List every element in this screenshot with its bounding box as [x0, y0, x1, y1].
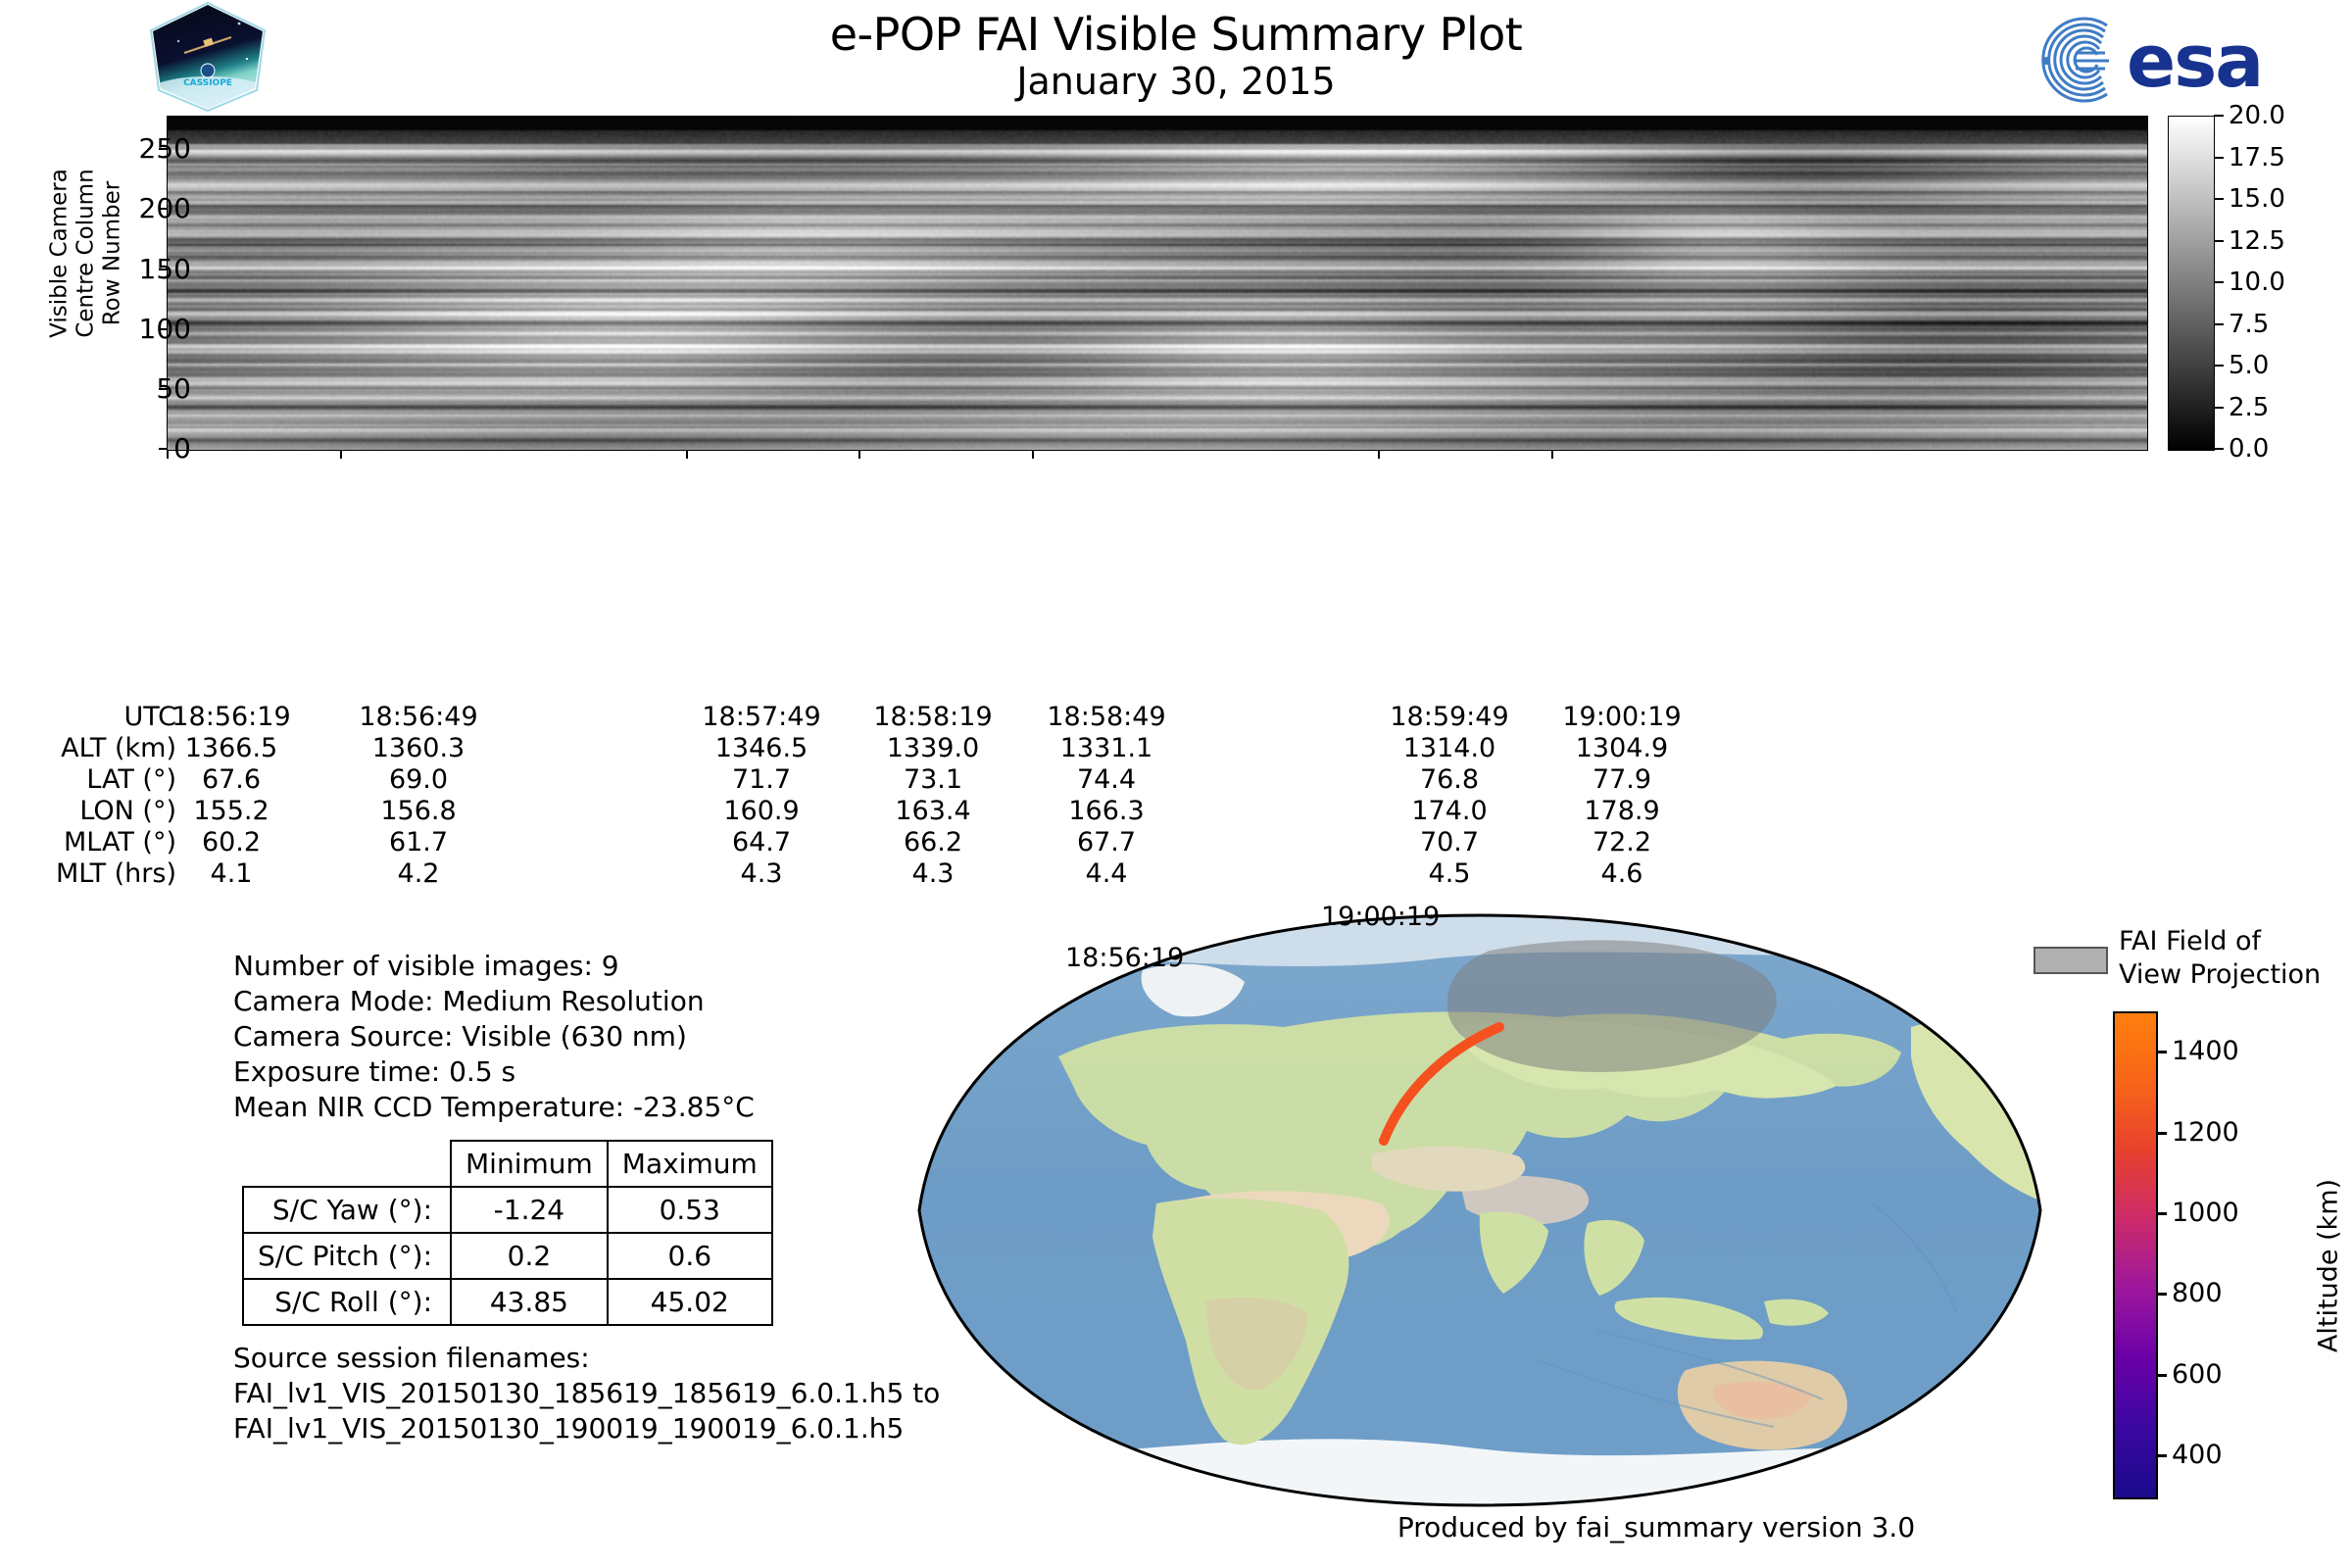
param-cell: 163.4	[835, 796, 1031, 826]
info-line-exposure: Exposure time: 0.5 s	[233, 1054, 755, 1090]
param-cell: 1314.0	[1351, 733, 1547, 763]
table-row: LON (°)155.2156.8160.9163.4166.3174.0178…	[0, 796, 2195, 823]
param-cell: 18:58:19	[835, 702, 1031, 732]
sc-row-label: S/C Pitch (°):	[243, 1233, 451, 1279]
param-cell: 1304.9	[1524, 733, 1720, 763]
param-cell: 64.7	[663, 827, 859, 857]
sc-row-label: S/C Yaw (°):	[243, 1187, 451, 1233]
signal-colorbar-tick-mark	[2214, 448, 2224, 450]
signal-colorbar-tick-mark	[2214, 365, 2224, 367]
cassiope-logo-text: CASSIOPE	[183, 78, 232, 88]
sc-cell-minimum: 0.2	[451, 1233, 608, 1279]
param-cell: 18:56:19	[133, 702, 329, 732]
altitude-colorbar-tick-mark	[2156, 1454, 2167, 1457]
fov-legend-label: FAI Field of View Projection	[2119, 925, 2321, 992]
param-cell: 1366.5	[133, 733, 329, 763]
param-cell: 174.0	[1351, 796, 1547, 826]
info-line-camera-source: Camera Source: Visible (630 nm)	[233, 1019, 755, 1054]
altitude-colorbar-tick-label: 600	[2172, 1361, 2223, 1388]
table-row: MLAT (°)60.261.764.766.267.770.772.2	[0, 827, 2195, 855]
sc-cell-maximum: 0.53	[608, 1187, 772, 1233]
signal-colorbar-tick-label: 17.5	[2229, 145, 2285, 171]
param-cell: 4.3	[663, 858, 859, 889]
y-axis-label-line-3: Row Number	[100, 28, 126, 479]
signal-colorbar-tick-mark	[2214, 198, 2224, 200]
param-cell: 18:57:49	[663, 702, 859, 732]
signal-colorbar-tick-label: 12.5	[2229, 228, 2285, 254]
param-cell: 71.7	[663, 764, 859, 795]
x-tick-mark	[340, 450, 342, 459]
fov-legend-line-2: View Projection	[2119, 958, 2321, 992]
page-subtitle: January 30, 2015	[0, 57, 2352, 106]
source-filenames-block: Source session filenames: FAI_lv1_VIS_20…	[233, 1341, 940, 1446]
param-cell: 4.5	[1351, 858, 1547, 889]
filename-line-2: FAI_lv1_VIS_20150130_190019_190019_6.0.1…	[233, 1411, 940, 1446]
param-cell: 70.7	[1351, 827, 1547, 857]
param-cell: 4.2	[320, 858, 516, 889]
y-tick-mark	[159, 388, 167, 390]
altitude-colorbar-tick-label: 1000	[2172, 1200, 2239, 1226]
y-tick-label: 50	[34, 375, 191, 403]
altitude-colorbar-tick-mark	[2156, 1212, 2167, 1215]
x-tick-mark	[1551, 450, 1553, 459]
altitude-colorbar-tick-mark	[2156, 1051, 2167, 1053]
y-axis-label-line-1: Visible Camera	[47, 28, 73, 479]
altitude-colorbar-label: Altitude (km)	[2314, 1060, 2344, 1472]
sc-cell-minimum: -1.24	[451, 1187, 608, 1233]
info-line-ccd-temp: Mean NIR CCD Temperature: -23.85°C	[233, 1090, 755, 1125]
signal-colorbar-tick-label: 7.5	[2229, 312, 2269, 337]
param-cell: 4.4	[1008, 858, 1204, 889]
esa-logo: esa	[2021, 16, 2315, 104]
table-row: LAT (°)67.669.071.773.174.476.877.9	[0, 764, 2195, 792]
param-cell: 1339.0	[835, 733, 1031, 763]
param-cell: 1360.3	[320, 733, 516, 763]
y-tick-label: 100	[34, 316, 191, 343]
altitude-colorbar-tick-mark	[2156, 1293, 2167, 1296]
x-tick-mark	[1378, 450, 1380, 459]
signal-colorbar-tick-label: 5.0	[2229, 353, 2269, 378]
param-cell: 74.4	[1008, 764, 1204, 795]
x-tick-mark	[167, 450, 169, 459]
param-cell: 4.1	[133, 858, 329, 889]
param-cell: 73.1	[835, 764, 1031, 795]
signal-colorbar-tick-label: 0.0	[2229, 436, 2269, 462]
param-cell: 156.8	[320, 796, 516, 826]
param-cell: 60.2	[133, 827, 329, 857]
param-cell: 69.0	[320, 764, 516, 795]
table-row: S/C Yaw (°):-1.240.53	[243, 1187, 772, 1233]
param-cell: 160.9	[663, 796, 859, 826]
signal-colorbar-tick-label: 2.5	[2229, 395, 2269, 420]
signal-colorbar-tick-mark	[2214, 240, 2224, 242]
fai-signal-heatmap	[167, 116, 2148, 451]
signal-colorbar-tick-mark	[2214, 323, 2224, 325]
param-cell: 77.9	[1524, 764, 1720, 795]
sc-cell-maximum: 45.02	[608, 1279, 772, 1325]
table-row: ALT (km)1366.51360.31346.51339.01331.113…	[0, 733, 2195, 760]
signal-colorbar-tick-mark	[2214, 157, 2224, 159]
y-tick-mark	[159, 328, 167, 330]
info-line-images: Number of visible images: 9	[233, 949, 755, 984]
signal-colorbar-tick-mark	[2214, 407, 2224, 409]
info-line-camera-mode: Camera Mode: Medium Resolution	[233, 984, 755, 1019]
param-cell: 178.9	[1524, 796, 1720, 826]
param-cell: 66.2	[835, 827, 1031, 857]
param-cell: 72.2	[1524, 827, 1720, 857]
sc-table-col-maximum: Maximum	[608, 1141, 772, 1187]
filename-line-1: FAI_lv1_VIS_20150130_185619_185619_6.0.1…	[233, 1376, 940, 1411]
sc-row-label: S/C Roll (°):	[243, 1279, 451, 1325]
table-row: MLT (hrs)4.14.24.34.34.44.54.6	[0, 858, 2195, 886]
filenames-heading: Source session filenames:	[233, 1341, 940, 1376]
sc-cell-minimum: 43.85	[451, 1279, 608, 1325]
cassiope-logo: CASSIOPE	[149, 2, 267, 112]
signal-colorbar	[2168, 116, 2215, 451]
param-cell: 1331.1	[1008, 733, 1204, 763]
altitude-colorbar-tick-label: 1200	[2172, 1119, 2239, 1146]
signal-colorbar-tick-label: 15.0	[2229, 186, 2285, 212]
param-cell: 155.2	[133, 796, 329, 826]
x-tick-mark	[858, 450, 860, 459]
x-tick-mark	[1032, 450, 1034, 459]
param-cell: 4.3	[835, 858, 1031, 889]
session-info-block: Number of visible images: 9 Camera Mode:…	[233, 949, 755, 1125]
sc-table-col-minimum: Minimum	[451, 1141, 608, 1187]
y-axis-label-line-2: Centre Column	[73, 28, 100, 479]
signal-colorbar-tick-label: 10.0	[2229, 269, 2285, 295]
param-cell: 76.8	[1351, 764, 1547, 795]
map-start-time-label: 18:56:19	[1065, 943, 1184, 973]
spacecraft-attitude-table: Minimum Maximum S/C Yaw (°):-1.240.53S/C…	[242, 1140, 773, 1326]
y-tick-label: 150	[34, 256, 191, 283]
param-cell: 18:59:49	[1351, 702, 1547, 732]
altitude-colorbar-tick-mark	[2156, 1132, 2167, 1135]
y-tick-mark	[159, 148, 167, 150]
param-cell: 67.7	[1008, 827, 1204, 857]
signal-colorbar-tick-mark	[2214, 281, 2224, 283]
sc-table-corner	[243, 1141, 451, 1187]
table-row: S/C Pitch (°):0.20.6	[243, 1233, 772, 1279]
param-cell: 19:00:19	[1524, 702, 1720, 732]
param-cell: 18:56:49	[320, 702, 516, 732]
y-tick-mark	[159, 269, 167, 270]
y-tick-label: 200	[34, 195, 191, 222]
page-title: e-POP FAI Visible Summary Plot	[0, 6, 2352, 63]
map-end-time-label: 19:00:19	[1321, 902, 1440, 932]
table-row: UTC18:56:1918:56:4918:57:4918:58:1918:58…	[0, 702, 2195, 729]
altitude-colorbar-tick-label: 400	[2172, 1442, 2223, 1468]
fov-legend-swatch	[2033, 947, 2108, 974]
ephemeris-parameter-table: UTC18:56:1918:56:4918:57:4918:58:1918:58…	[0, 702, 2195, 890]
y-tick-mark	[159, 208, 167, 210]
x-tick-mark	[686, 450, 688, 459]
param-cell: 4.6	[1524, 858, 1720, 889]
signal-colorbar-tick-mark	[2214, 115, 2224, 117]
param-cell: 166.3	[1008, 796, 1204, 826]
heatmap-y-axis-label: Visible Camera Centre Column Row Number	[47, 28, 126, 479]
ground-track-world-map: 19:00:19 18:56:19	[911, 909, 2048, 1511]
signal-colorbar-tick-label: 20.0	[2229, 103, 2285, 128]
param-cell: 18:58:49	[1008, 702, 1204, 732]
table-row: S/C Roll (°):43.8545.02	[243, 1279, 772, 1325]
param-cell: 1346.5	[663, 733, 859, 763]
altitude-colorbar-tick-label: 1400	[2172, 1038, 2239, 1064]
table-header-row: Minimum Maximum	[243, 1141, 772, 1187]
fov-legend-line-1: FAI Field of	[2119, 925, 2321, 958]
altitude-colorbar	[2113, 1011, 2158, 1499]
footer-credit: Produced by fai_summary version 3.0	[1117, 1511, 2195, 1543]
sc-cell-maximum: 0.6	[608, 1233, 772, 1279]
param-cell: 67.6	[133, 764, 329, 795]
param-cell: 61.7	[320, 827, 516, 857]
y-tick-label: 250	[34, 135, 191, 163]
altitude-colorbar-tick-label: 800	[2172, 1280, 2223, 1306]
esa-wordmark: esa	[2127, 20, 2262, 104]
y-tick-mark	[159, 448, 167, 450]
altitude-colorbar-tick-mark	[2156, 1374, 2167, 1377]
